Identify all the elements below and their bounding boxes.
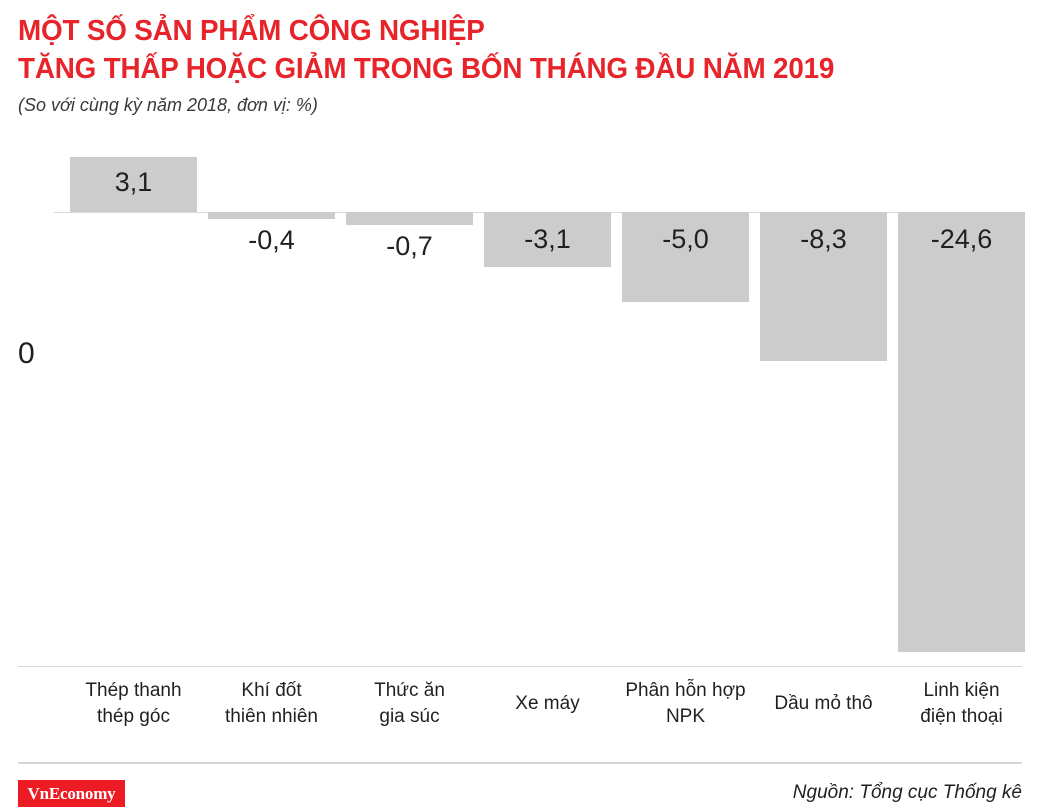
x-axis-label-line: Dầu mỏ thô — [760, 691, 887, 717]
x-axis-label: Dầu mỏ thô — [760, 691, 887, 717]
bar-group: -8,3 — [760, 143, 887, 667]
x-axis-label-line: Thức ăn — [346, 678, 473, 704]
x-axis-label-line: Phân hỗn hợp — [622, 678, 749, 704]
page-title-line1: MỘT SỐ SẢN PHẨM CÔNG NGHIỆP — [18, 12, 982, 50]
bar-value-label: -0,4 — [208, 227, 335, 254]
bar-group: -24,6 — [898, 143, 1025, 667]
footer-divider — [18, 762, 1022, 764]
x-axis-label-line: Linh kiện — [898, 678, 1025, 704]
bar-value-label: -24,6 — [898, 226, 1025, 253]
page-title-line2: TĂNG THẤP HOẶC GIẢM TRONG BỐN THÁNG ĐẦU … — [18, 50, 982, 88]
bar[interactable] — [346, 212, 473, 225]
x-axis-label-line: thiên nhiên — [208, 704, 335, 730]
bar-group: -0,4 — [208, 143, 335, 667]
bar-group: -0,7 — [346, 143, 473, 667]
x-axis-label-line: NPK — [622, 704, 749, 730]
x-axis-label-line: Khí đốt — [208, 678, 335, 704]
x-axis-label-line: Thép thanh — [70, 678, 197, 704]
x-axis-label: Phân hỗn hợpNPK — [622, 678, 749, 730]
x-axis-label: Thức ăngia súc — [346, 678, 473, 730]
bar-value-label: -8,3 — [760, 226, 887, 253]
x-axis-label-line: gia súc — [346, 704, 473, 730]
bar-group: -5,0 — [622, 143, 749, 667]
bar-group: -3,1 — [484, 143, 611, 667]
x-axis-label-line: điện thoại — [898, 704, 1025, 730]
x-axis-label-line: Xe máy — [484, 691, 611, 717]
x-axis-category-labels: Thép thanhthép gócKhí đốtthiên nhiênThức… — [70, 678, 1022, 748]
bar[interactable] — [898, 212, 1025, 652]
x-axis-label: Khí đốtthiên nhiên — [208, 678, 335, 730]
x-axis-label-line: thép góc — [70, 704, 197, 730]
bar-value-label: -3,1 — [484, 226, 611, 253]
bar[interactable] — [208, 212, 335, 219]
bar-value-label: 3,1 — [70, 169, 197, 196]
bar-value-label: -5,0 — [622, 226, 749, 253]
bar-group: 3,1 — [70, 143, 197, 667]
source-note: Nguồn: Tổng cục Thống kê — [793, 782, 1022, 804]
plot-area: 3,1-0,4-0,7-3,1-5,0-8,3-24,6 — [70, 143, 1022, 667]
x-axis-line — [18, 666, 1022, 667]
x-axis-label: Thép thanhthép góc — [70, 678, 197, 730]
x-axis-label: Xe máy — [484, 691, 611, 717]
y-axis-zero-label: 0 — [18, 339, 35, 369]
chart-subtitle: (So với cùng kỳ năm 2018, đơn vị: %) — [18, 95, 1022, 116]
vneconomy-logo: VnEconomy — [18, 780, 125, 807]
x-axis-label: Linh kiệnđiện thoại — [898, 678, 1025, 730]
header: MỘT SỐ SẢN PHẨM CÔNG NGHIỆP TĂNG THẤP HO… — [18, 12, 1022, 116]
bar-value-label: -0,7 — [346, 233, 473, 260]
bar-chart: 0 3,1-0,4-0,7-3,1-5,0-8,3-24,6 — [18, 143, 1022, 667]
